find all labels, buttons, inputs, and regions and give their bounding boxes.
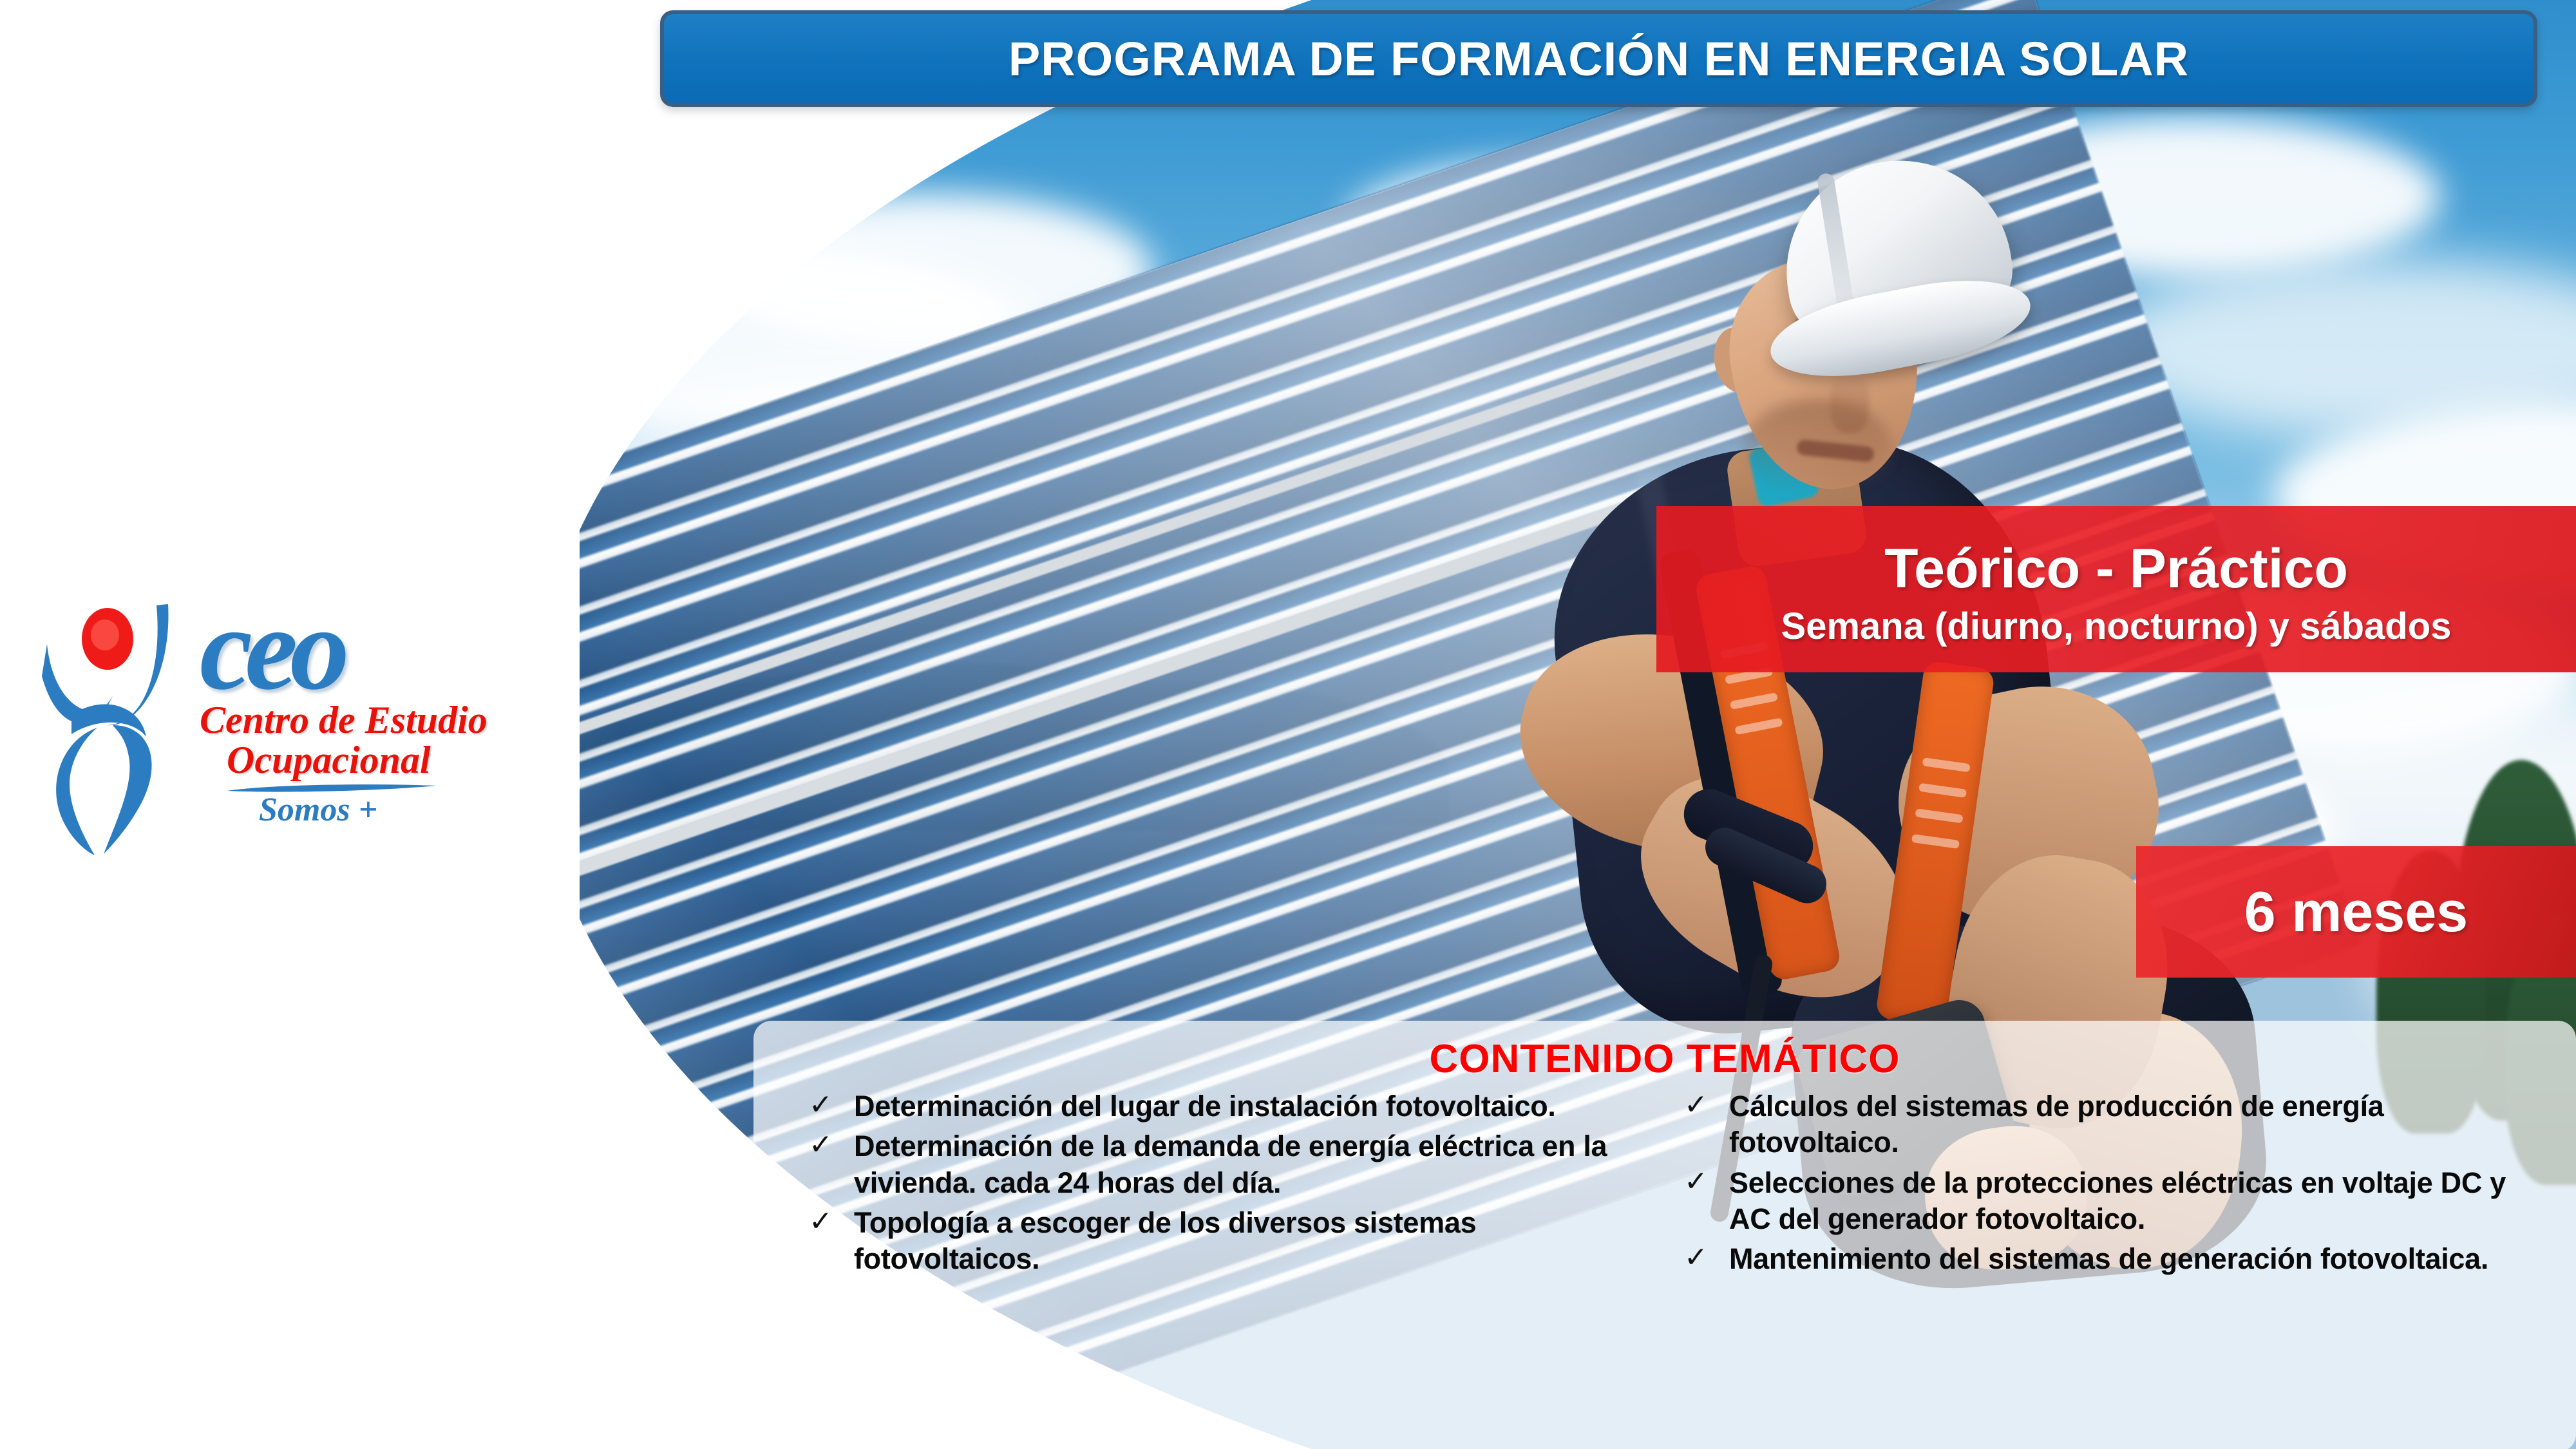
check-mark-icon: ✓ (809, 1128, 835, 1162)
ceo-logo-line1: Centro de Estudio (200, 701, 528, 739)
poster-stage: ceo Centro de Estudio Ocupacional Somos … (0, 0, 2576, 1449)
duration-banner: 6 meses (2136, 846, 2576, 978)
page-title: PROGRAMA DE FORMACIÓN EN ENERGIA SOLAR (1009, 32, 2189, 86)
syllabus-heading: CONTENIDO TEMÁTICO (753, 1036, 2576, 1082)
modality-title: Teórico - Práctico (1884, 537, 2348, 601)
syllabus-panel: CONTENIDO TEMÁTICO ✓ Determinación del l… (753, 1021, 2576, 1449)
ceo-logo-text: ceo Centro de Estudio Ocupacional Somos … (200, 592, 528, 869)
syllabus-column-left: ✓ Determinación del lugar de instalación… (779, 1088, 1665, 1281)
list-item: ✓ Determinación de la demanda de energía… (809, 1128, 1648, 1201)
harness-rung (1918, 783, 1967, 798)
list-item-text: Mantenimiento del sistemas de generación… (1729, 1241, 2488, 1277)
list-item: ✓ Mantenimiento del sistemas de generaci… (1684, 1241, 2533, 1277)
ceo-logo-line2: Ocupacional (227, 741, 528, 779)
syllabus-column-right: ✓ Cálculos del sistemas de producción de… (1665, 1088, 2550, 1281)
modality-banner: Teórico - Práctico Semana (diurno, noctu… (1656, 506, 2576, 672)
harness-rung (1922, 757, 1971, 772)
syllabus-columns: ✓ Determinación del lugar de instalación… (753, 1088, 2576, 1281)
list-item-text: Selecciones de la protecciones eléctrica… (1729, 1165, 2533, 1238)
list-item: ✓ Selecciones de la protecciones eléctri… (1684, 1165, 2533, 1238)
harness-rung (1911, 834, 1960, 849)
program-title-banner: PROGRAMA DE FORMACIÓN EN ENERGIA SOLAR (660, 10, 2537, 107)
harness-rung (1730, 692, 1778, 710)
harness-rung (1734, 717, 1783, 735)
list-item: ✓ Topología a escoger de los diversos si… (809, 1205, 1648, 1278)
harness-rung (1915, 808, 1964, 823)
list-item-text: Determinación del lugar de instalación f… (854, 1088, 1556, 1124)
check-mark-icon: ✓ (1684, 1165, 1710, 1198)
list-item-text: Determinación de la demanda de energía e… (854, 1128, 1648, 1201)
list-item-text: Topología a escoger de los diversos sist… (854, 1205, 1648, 1278)
modality-subtitle: Semana (diurno, nocturno) y sábados (1781, 605, 2452, 648)
logo-swoosh (225, 782, 438, 792)
check-mark-icon: ✓ (1684, 1241, 1710, 1274)
list-item: ✓ Determinación del lugar de instalación… (809, 1088, 1648, 1124)
ceo-wordmark: ceo (200, 592, 528, 706)
list-item-text: Cálculos del sistemas de producción de e… (1729, 1088, 2533, 1161)
check-mark-icon: ✓ (809, 1205, 835, 1238)
check-mark-icon: ✓ (809, 1088, 835, 1122)
left-white-panel: ceo Centro de Estudio Ocupacional Somos … (0, 0, 580, 1449)
list-item: ✓ Cálculos del sistemas de producción de… (1684, 1088, 2533, 1161)
logo-tagline: Somos + (259, 791, 528, 829)
worker-nose (1830, 374, 1869, 433)
ceo-logo[interactable]: ceo Centro de Estudio Ocupacional Somos … (35, 599, 525, 869)
person-figure-icon (35, 599, 196, 857)
duration-label: 6 meses (2244, 879, 2468, 945)
check-mark-icon: ✓ (1684, 1088, 1710, 1122)
